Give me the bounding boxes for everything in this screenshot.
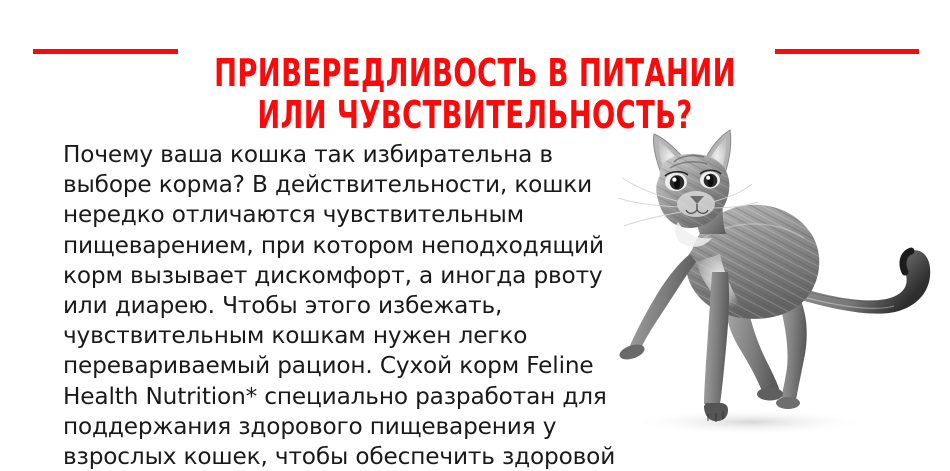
cat-front-leg-far bbox=[618, 254, 696, 362]
promo-page: ПРИВЕРЕДЛИВОСТЬ В ПИТАНИИ ИЛИ ЧУВСТВИТЕЛ… bbox=[0, 0, 950, 471]
cat-muzzle bbox=[677, 191, 715, 217]
cat-photo bbox=[600, 122, 950, 452]
body-text-block: Почему ваша кошка так избирательна в выб… bbox=[63, 140, 619, 471]
header-banner: ПРИВЕРЕДЛИВОСТЬ В ПИТАНИИ ИЛИ ЧУВСТВИТЕЛ… bbox=[0, 0, 950, 125]
cat-ground-shadow bbox=[630, 409, 870, 435]
page-title-line-1: ПРИВЕРЕДЛИВОСТЬ В ПИТАНИИ bbox=[95, 52, 855, 94]
cat-illustration-svg bbox=[600, 122, 950, 452]
body-paragraph: Почему ваша кошка так избирательна в выб… bbox=[63, 140, 619, 471]
